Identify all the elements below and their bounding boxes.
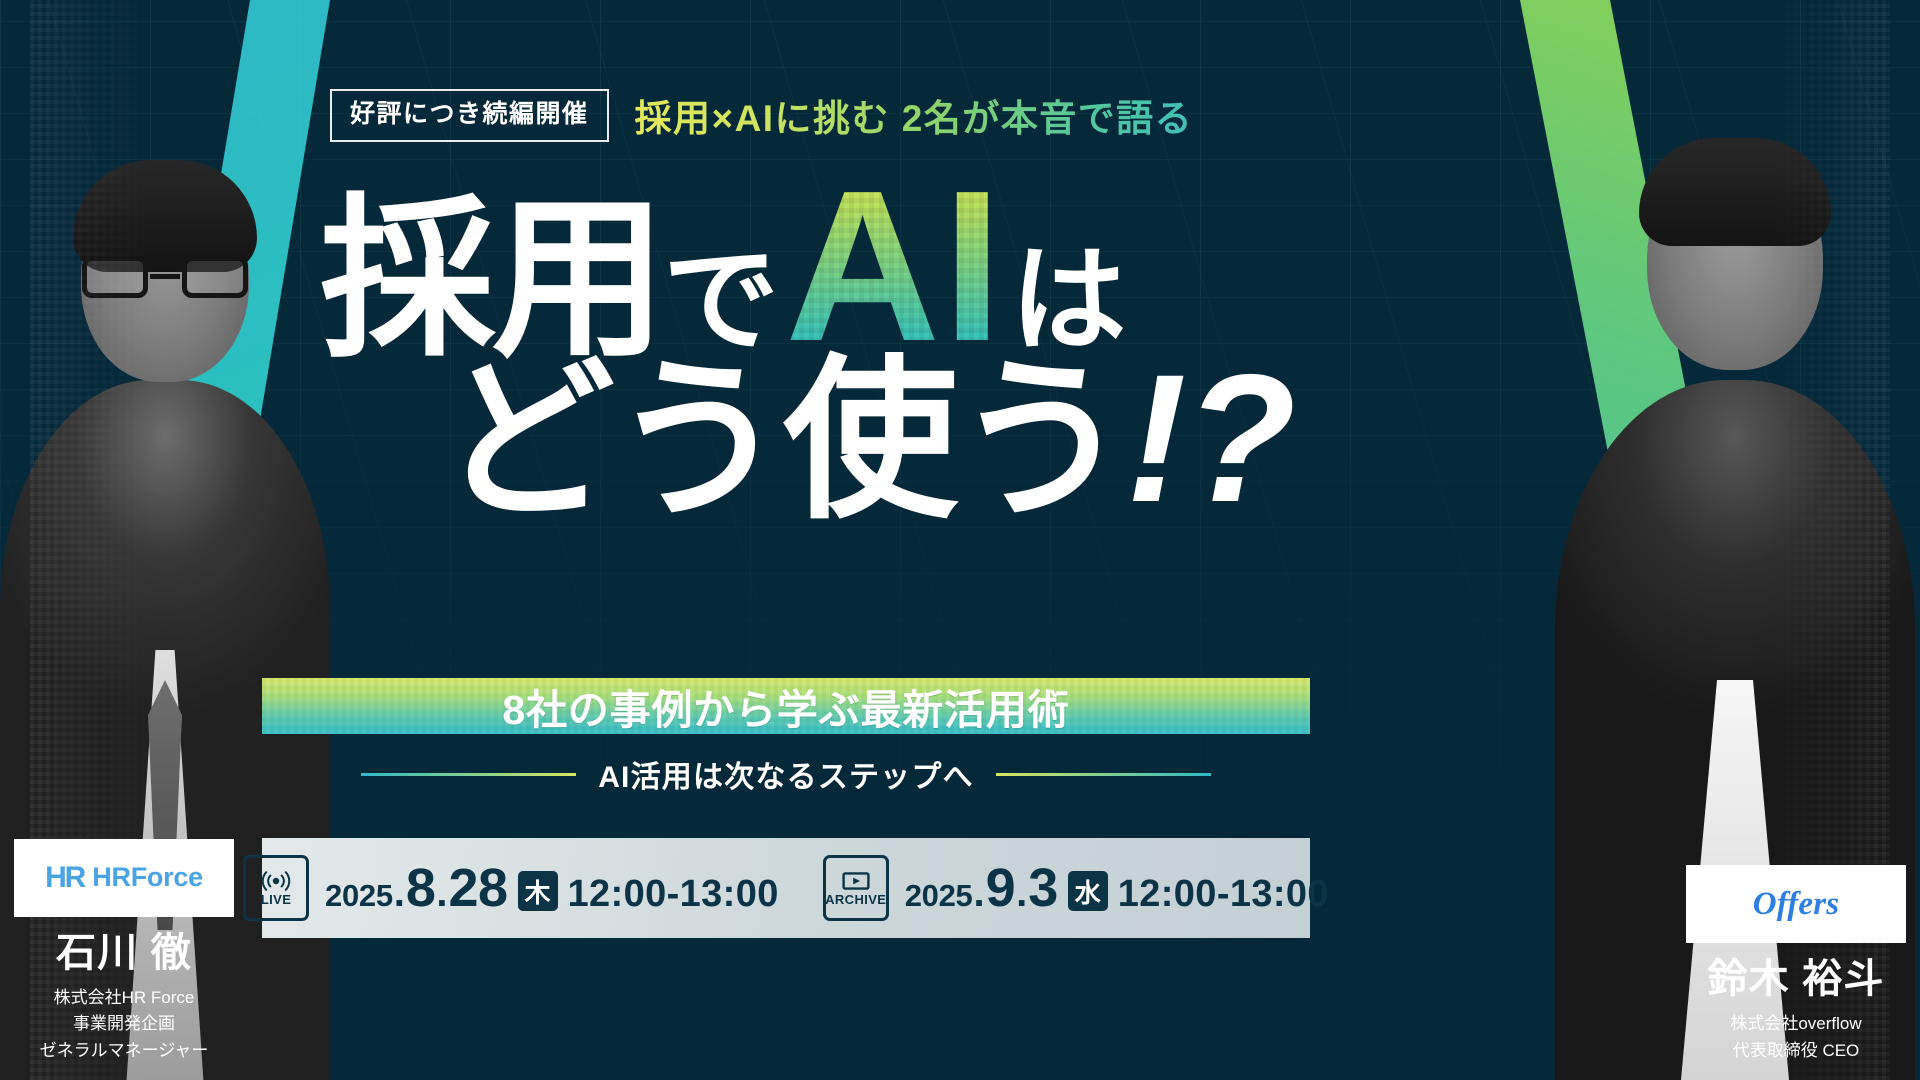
offers-wordmark: Offers — [1753, 886, 1840, 923]
live-year: 2025 — [325, 878, 393, 914]
promo-badge: 好評につき続編開催 — [330, 89, 609, 142]
tagline: 採用×AIに挑む 2名が本音で語る — [635, 88, 1194, 142]
live-time: 12:00-13:00 — [568, 873, 779, 916]
archive-time: 12:00-13:00 — [1118, 873, 1329, 916]
headline-bang: !? — [1126, 347, 1294, 529]
schedule-date-live: 2025 . 8 . 28 木 12:00-13:00 — [325, 861, 779, 916]
speaker-left-dept: 事業開発企画 — [14, 1011, 234, 1037]
live-day: 28 — [449, 861, 508, 915]
schedule-item-archive: ARCHIVE 2025 . 9 . 3 水 12:00-13:00 — [801, 855, 1351, 921]
subtitle-bar-text: 8社の事例から学ぶ最新活用術 — [502, 676, 1069, 736]
offers-logo: Offers — [1686, 865, 1906, 943]
hrforce-wordmark: HRForce — [92, 862, 203, 893]
play-rect-icon — [840, 870, 872, 892]
archive-badge-label: ARCHIVE — [825, 893, 886, 906]
headline-part-dou-tsukau: どう使う — [440, 354, 1126, 529]
header-row: 好評につき続編開催 採用×AIに挑む 2名が本音で語る — [330, 88, 1193, 142]
live-badge: LIVE — [243, 855, 309, 921]
speaker-right-company: 株式会社overflow — [1686, 1011, 1906, 1037]
speaker-meta-left: 株式会社HR Force 事業開発企画 ゼネラルマネージャー — [14, 985, 234, 1080]
live-month: 8 — [406, 861, 436, 915]
speaker-left-company: 株式会社HR Force — [14, 985, 234, 1011]
archive-badge: ARCHIVE — [823, 855, 889, 921]
archive-year: 2025 — [905, 878, 973, 914]
schedule-date-archive: 2025 . 9 . 3 水 12:00-13:00 — [905, 861, 1329, 916]
speaker-right-title: 代表取締役 CEO — [1686, 1038, 1906, 1064]
main-content: 好評につき続編開催 採用×AIに挑む 2名が本音で語る 採用 で AI は どう… — [0, 0, 1920, 1080]
speaker-block-right: Offers 鈴木 裕斗 株式会社overflow 代表取締役 CEO — [1686, 865, 1906, 1080]
live-dow: 木 — [518, 871, 558, 911]
banner-stage: 好評につき続編開催 採用×AIに挑む 2名が本音で語る 採用 で AI は どう… — [0, 0, 1920, 1080]
hrforce-logo: HR HRForce — [14, 839, 234, 917]
archive-month: 9 — [986, 861, 1016, 915]
speaker-name-left: 石川 徹 — [14, 931, 234, 975]
speaker-name-right: 鈴木 裕斗 — [1686, 957, 1906, 1001]
rule-right — [996, 773, 1211, 776]
speaker-meta-right: 株式会社overflow 代表取締役 CEO — [1686, 1011, 1906, 1080]
caption-text: AI活用は次なるステップへ — [598, 752, 974, 796]
speaker-block-left: HR HRForce 石川 徹 株式会社HR Force 事業開発企画 ゼネラル… — [14, 839, 234, 1080]
live-badge-label: LIVE — [261, 893, 291, 906]
schedule-item-live: LIVE 2025 . 8 . 28 木 12:00-13:00 — [221, 855, 801, 921]
archive-day: 3 — [1028, 861, 1058, 915]
hrforce-mark-icon: HR — [45, 861, 84, 895]
subtitle-bar: 8社の事例から学ぶ最新活用術 — [262, 678, 1310, 734]
schedule-bar: LIVE 2025 . 8 . 28 木 12:00-13:00 — [262, 838, 1310, 938]
headline: 採用 で AI は どう使う !? — [310, 158, 1310, 529]
caption-row: AI活用は次なるステップへ — [262, 752, 1310, 796]
rule-left — [361, 773, 576, 776]
broadcast-icon — [261, 870, 291, 892]
archive-dow: 水 — [1068, 871, 1108, 911]
speaker-left-title: ゼネラルマネージャー — [14, 1038, 234, 1064]
